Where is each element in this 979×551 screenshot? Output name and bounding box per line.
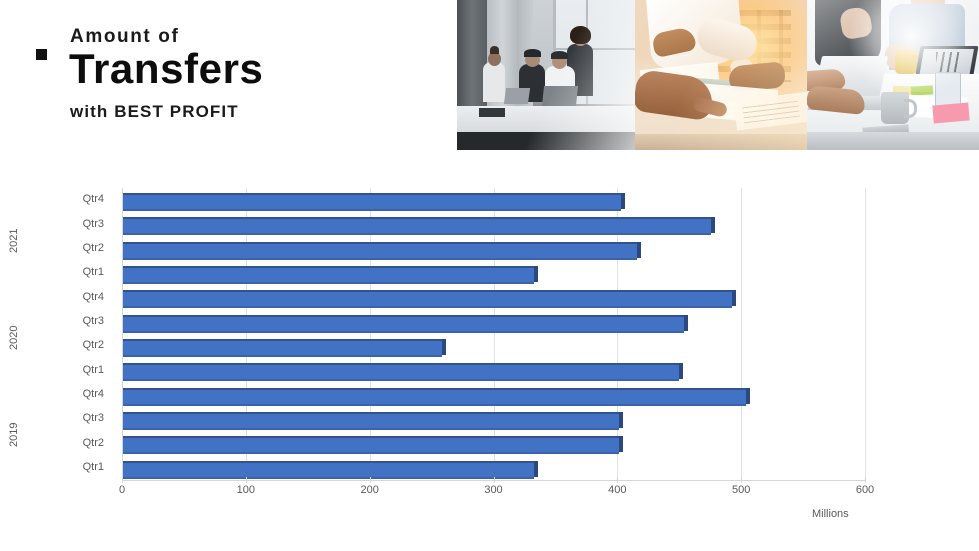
xtick-mark-300 bbox=[494, 477, 495, 483]
xtick-mark-500 bbox=[741, 477, 742, 483]
bar-2021-Qtr4[interactable] bbox=[123, 193, 621, 209]
xtick-500: 500 bbox=[732, 484, 750, 496]
x-axis-unit-label: Millions bbox=[812, 508, 849, 520]
xtick-200: 200 bbox=[360, 484, 378, 496]
bar-2021-Qtr3[interactable] bbox=[123, 217, 711, 233]
bar-row bbox=[122, 188, 865, 212]
ytick-2019-Qtr3: Qtr3 bbox=[83, 413, 104, 424]
bar-2020-Qtr1[interactable] bbox=[123, 363, 679, 379]
desk-documents-photo bbox=[635, 0, 807, 150]
bar-row bbox=[122, 431, 865, 455]
bar-2019-Qtr1[interactable] bbox=[123, 461, 534, 477]
transfers-bar-chart: 202120202019 Qtr4Qtr3Qtr2Qtr1Qtr4Qtr3Qtr… bbox=[0, 160, 979, 551]
bar-2019-Qtr2[interactable] bbox=[123, 436, 619, 452]
xtick-0: 0 bbox=[119, 484, 125, 496]
bar-2020-Qtr4[interactable] bbox=[123, 290, 732, 306]
bar-row bbox=[122, 407, 865, 431]
bar-row bbox=[122, 383, 865, 407]
laptop-table-photo bbox=[807, 0, 979, 150]
bar-row bbox=[122, 237, 865, 261]
bar-2020-Qtr2[interactable] bbox=[123, 339, 442, 355]
square-bullet-icon bbox=[36, 49, 47, 60]
ytick-2019-Qtr2: Qtr2 bbox=[83, 438, 104, 449]
xtick-400: 400 bbox=[608, 484, 626, 496]
photo-strip bbox=[457, 0, 979, 150]
bar-2019-Qtr3[interactable] bbox=[123, 412, 619, 428]
gridline-600 bbox=[865, 188, 866, 480]
plot-area bbox=[122, 188, 865, 480]
bar-2021-Qtr1[interactable] bbox=[123, 266, 534, 282]
bar-row bbox=[122, 285, 865, 309]
ytick-2020-Qtr1: Qtr1 bbox=[83, 365, 104, 376]
slide-header: Amount of Transfers with BEST PROFIT bbox=[0, 0, 979, 150]
office-meeting-photo bbox=[457, 0, 635, 150]
ytick-2019-Qtr4: Qtr4 bbox=[83, 389, 104, 400]
xtick-mark-100 bbox=[246, 477, 247, 483]
page-title: Transfers bbox=[69, 46, 264, 91]
xtick-mark-0 bbox=[122, 477, 123, 483]
xtick-300: 300 bbox=[484, 484, 502, 496]
bar-2021-Qtr2[interactable] bbox=[123, 242, 637, 258]
bar-2020-Qtr3[interactable] bbox=[123, 315, 684, 331]
ytick-2021-Qtr3: Qtr3 bbox=[83, 219, 104, 230]
ytick-2021-Qtr2: Qtr2 bbox=[83, 243, 104, 254]
bar-series bbox=[122, 188, 865, 480]
title-subtitle: with BEST PROFIT bbox=[70, 103, 239, 120]
bar-row bbox=[122, 358, 865, 382]
xtick-600: 600 bbox=[856, 484, 874, 496]
bar-row bbox=[122, 212, 865, 236]
bar-row bbox=[122, 334, 865, 358]
ytick-2020-Qtr2: Qtr2 bbox=[83, 340, 104, 351]
title-kicker: Amount of bbox=[70, 27, 179, 46]
xtick-mark-400 bbox=[617, 477, 618, 483]
xtick-mark-600 bbox=[865, 477, 866, 483]
x-axis-tick-labels: 0100200300400500600 bbox=[122, 484, 865, 504]
bar-row bbox=[122, 310, 865, 334]
quarter-tick-labels: Qtr4Qtr3Qtr2Qtr1Qtr4Qtr3Qtr2Qtr1Qtr4Qtr3… bbox=[0, 188, 114, 480]
ytick-2021-Qtr1: Qtr1 bbox=[83, 267, 104, 278]
ytick-2019-Qtr1: Qtr1 bbox=[83, 462, 104, 473]
bar-row bbox=[122, 261, 865, 285]
xtick-mark-200 bbox=[370, 477, 371, 483]
ytick-2020-Qtr3: Qtr3 bbox=[83, 316, 104, 327]
xtick-100: 100 bbox=[237, 484, 255, 496]
bar-2019-Qtr4[interactable] bbox=[123, 388, 746, 404]
ytick-2021-Qtr4: Qtr4 bbox=[83, 194, 104, 205]
ytick-2020-Qtr4: Qtr4 bbox=[83, 292, 104, 303]
